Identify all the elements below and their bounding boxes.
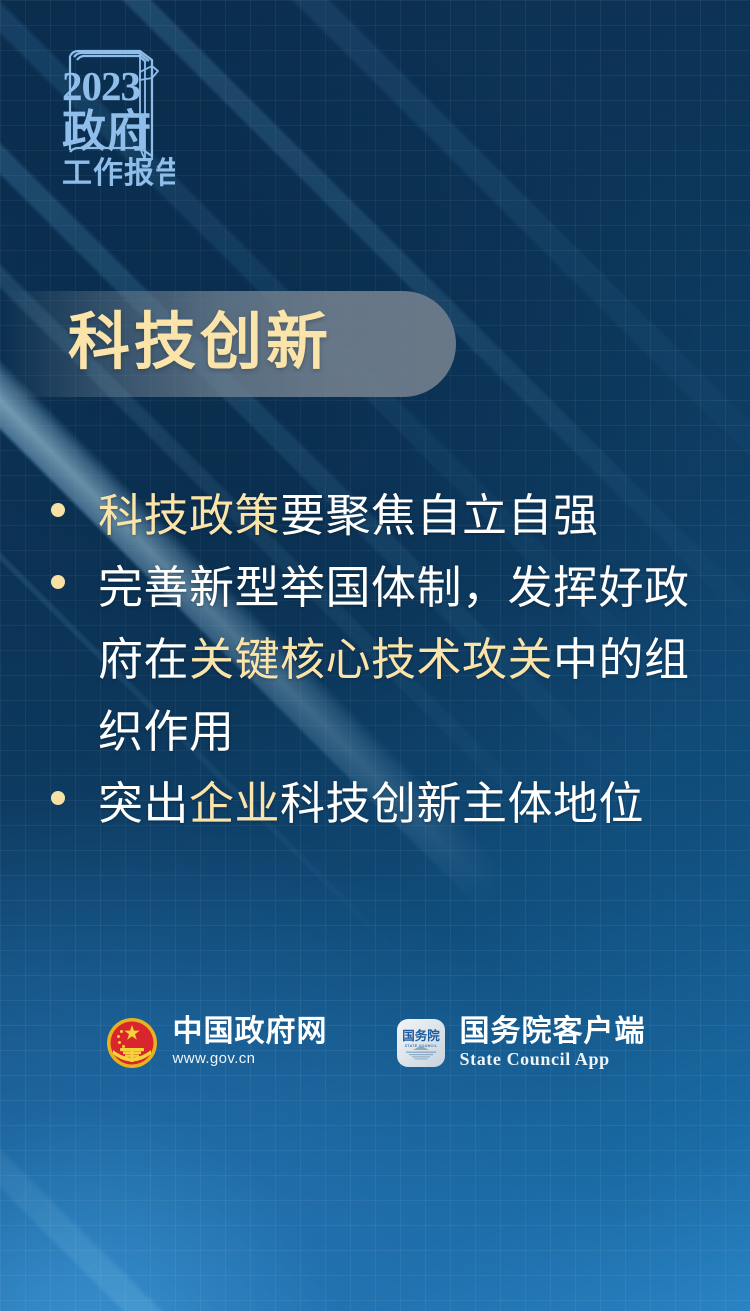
brand-gov-cn[interactable]: 中国政府网 www.gov.cn — [105, 1015, 328, 1070]
bullet-text: 科技政策要聚焦自立自强 — [98, 480, 714, 552]
brand-name-cn: 国务院客户端 — [460, 1015, 646, 1048]
brand-name-cn: 中国政府网 — [173, 1015, 328, 1048]
bullet-text-run-0: 科技政策 — [98, 490, 280, 541]
app-icon-label: 国务院 — [402, 1028, 440, 1043]
bullet-text-run-1: 要聚焦自立自强 — [280, 490, 599, 541]
bullet-dot-icon — [51, 791, 65, 805]
national-emblem-icon — [105, 1016, 159, 1070]
list-item: 科技政策要聚焦自立自强 — [44, 480, 714, 552]
bullet-text-run-1: 企业 — [189, 778, 280, 829]
logo-line2: 工作报告 — [62, 157, 175, 188]
bullet-dot-icon — [51, 503, 65, 517]
list-item: 突出企业科技创新主体地位 — [44, 768, 714, 840]
brand-text-state-council: 国务院客户端 State Council App — [460, 1015, 646, 1070]
report-logo: 2023 政府 工作报告 — [40, 38, 175, 188]
bullet-text-run-1: 关键核心技术攻关 — [189, 634, 553, 685]
footer: 中国政府网 www.gov.cn 国务院 STATE COUNCIL — [0, 1015, 750, 1070]
bullet-text: 突出企业科技创新主体地位 — [98, 768, 714, 840]
logo-year: 2023 — [62, 63, 141, 109]
poster-root: 2023 政府 工作报告 科技创新 科技政策要聚焦自立自强 完善新型举国体制，发… — [0, 0, 750, 1311]
brand-name-en: State Council App — [460, 1048, 646, 1070]
logo-line1: 政府 — [62, 107, 152, 156]
bullet-text-run-2: 科技创新主体地位 — [280, 778, 644, 829]
book-icon: 2023 政府 工作报告 — [40, 38, 175, 188]
bullet-text-run-0: 突出 — [98, 778, 189, 829]
brand-state-council-app[interactable]: 国务院 STATE COUNCIL 国务院客户端 State Council A… — [396, 1015, 646, 1070]
bullet-text: 完善新型举国体制，发挥好政府在关键核心技术攻关中的组织作用 — [98, 552, 714, 768]
brand-url: www.gov.cn — [173, 1048, 328, 1070]
bullet-dot-icon — [51, 575, 65, 589]
state-council-app-icon: 国务院 STATE COUNCIL — [396, 1018, 446, 1068]
brand-text-gov-cn: 中国政府网 www.gov.cn — [173, 1015, 328, 1070]
section-title: 科技创新 — [68, 305, 332, 381]
bullet-list: 科技政策要聚焦自立自强 完善新型举国体制，发挥好政府在关键核心技术攻关中的组织作… — [44, 480, 714, 840]
list-item: 完善新型举国体制，发挥好政府在关键核心技术攻关中的组织作用 — [44, 552, 714, 768]
